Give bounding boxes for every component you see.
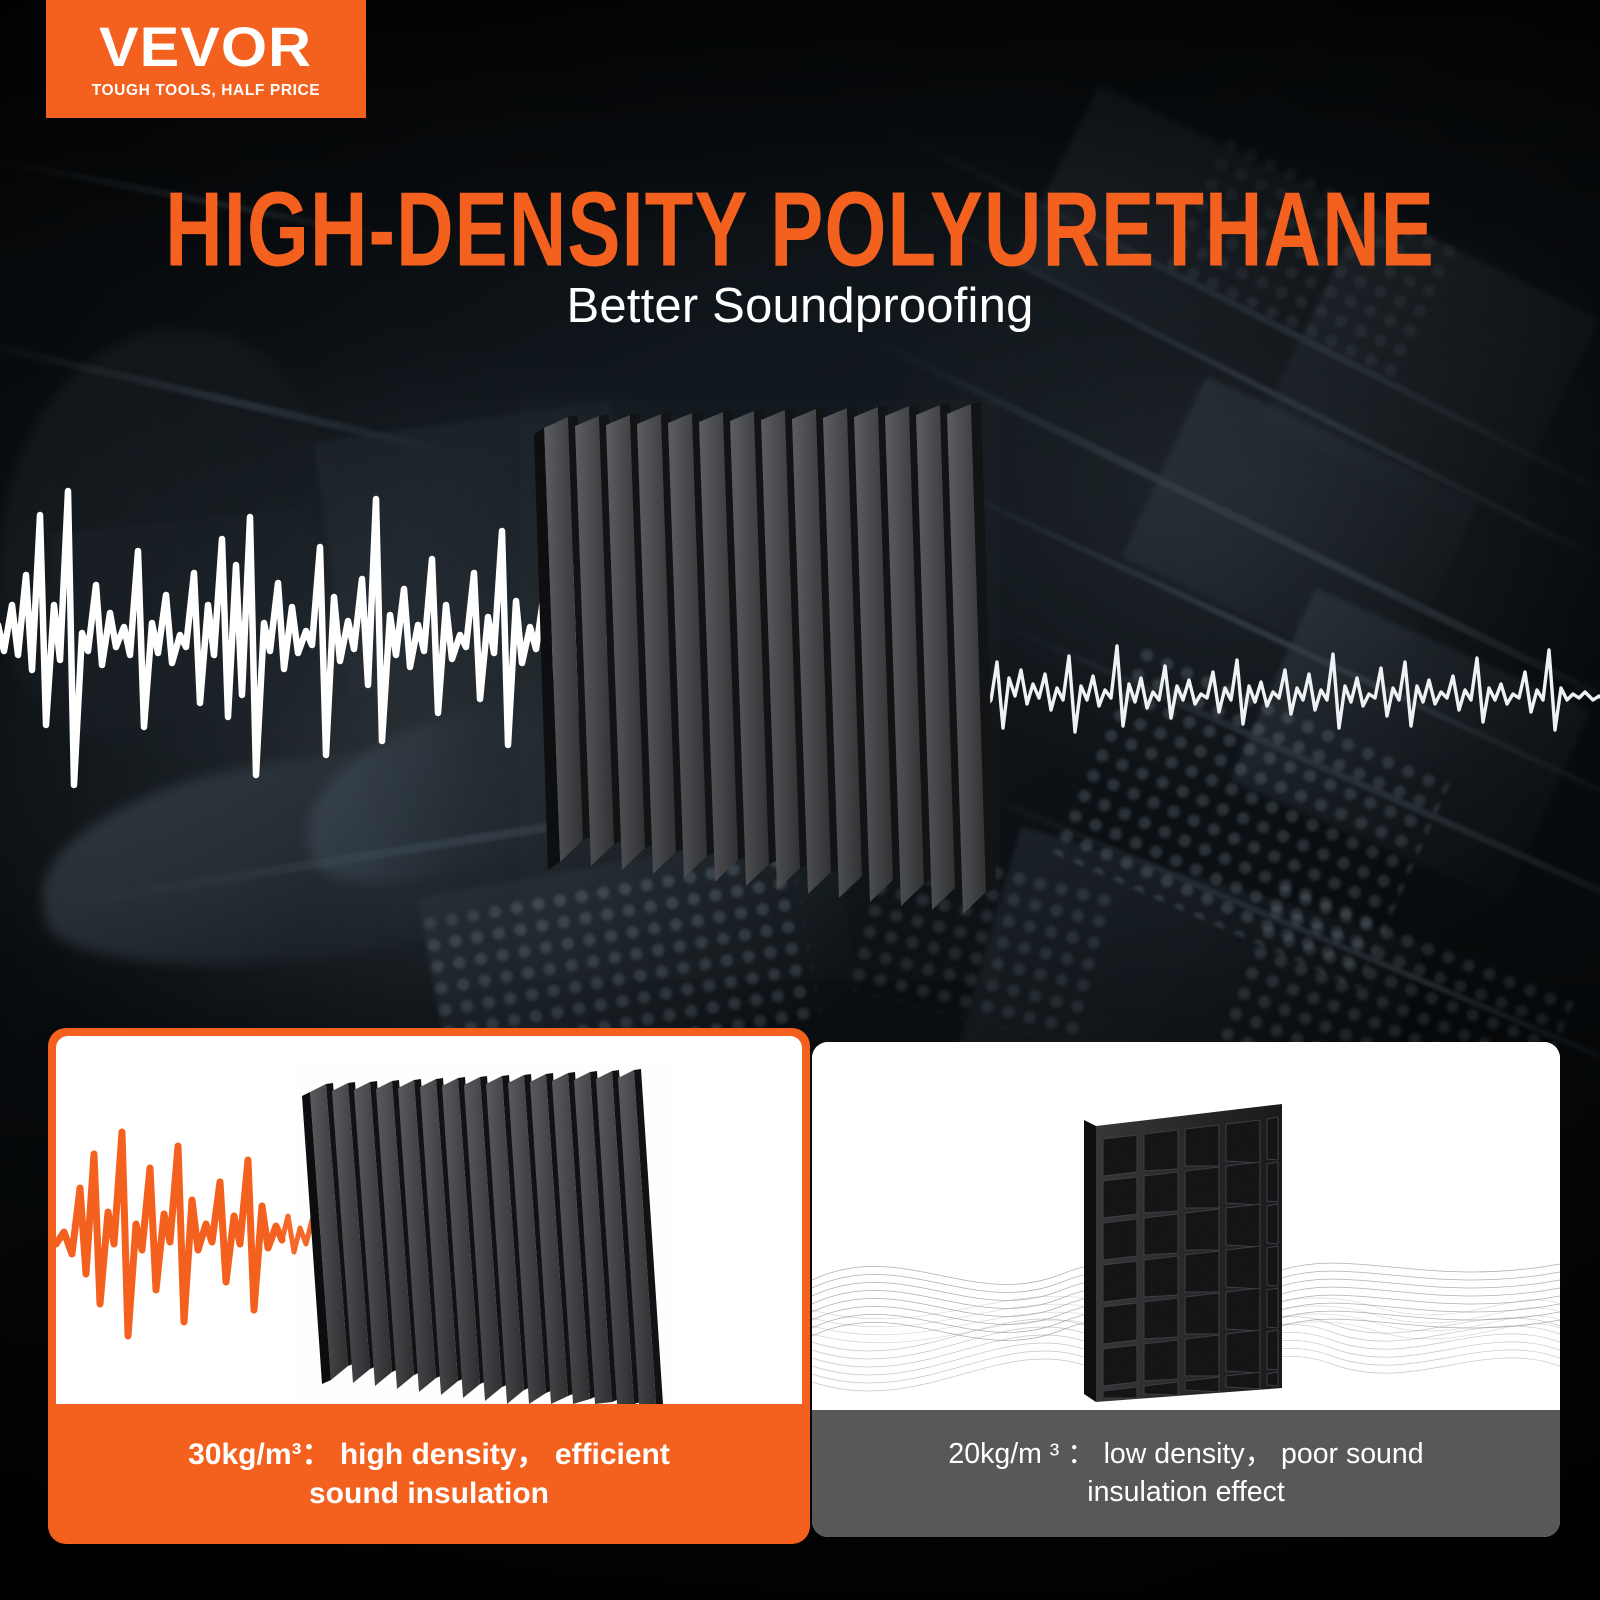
low-density-caption: 20kg/m ³ ： low density， poor sound insul… — [812, 1410, 1560, 1537]
high-density-caption: 30kg/m³： high density， efficient sound i… — [48, 1404, 810, 1544]
page-title: HIGH-DENSITY POLYURETHANE — [40, 176, 1560, 282]
vevor-logo: VEVOR TOUGH TOOLS, HALF PRICE — [46, 0, 366, 118]
hero-outgoing-waveform — [985, 600, 1600, 760]
product-marketing-image: VEVOR TOUGH TOOLS, HALF PRICE HIGH-DENSI… — [0, 0, 1600, 1600]
low-density-caption-line1: 20kg/m ³ ： low density， poor sound — [948, 1438, 1423, 1470]
page-subtitle: Better Soundproofing — [0, 278, 1600, 334]
low-density-photo — [812, 1042, 1560, 1410]
high-density-photo — [56, 1036, 802, 1404]
high-density-caption-line1: 30kg/m³： high density， efficient — [188, 1438, 670, 1471]
brand-wordmark: VEVOR — [99, 19, 312, 75]
low-density-caption-line2: insulation effect — [1087, 1476, 1285, 1508]
high-density-comparison-panel: 30kg/m³： high density， efficient sound i… — [48, 1028, 810, 1544]
brand-tagline: TOUGH TOOLS, HALF PRICE — [92, 82, 321, 100]
high-density-caption-line2: sound insulation — [309, 1477, 549, 1510]
low-density-comparison-panel: 20kg/m ³ ： low density， poor sound insul… — [812, 1042, 1560, 1537]
hero-product-foam-panel — [520, 400, 1000, 980]
grid-foam-panel — [812, 1042, 1560, 1410]
wedge-foam-panel — [56, 1036, 802, 1404]
